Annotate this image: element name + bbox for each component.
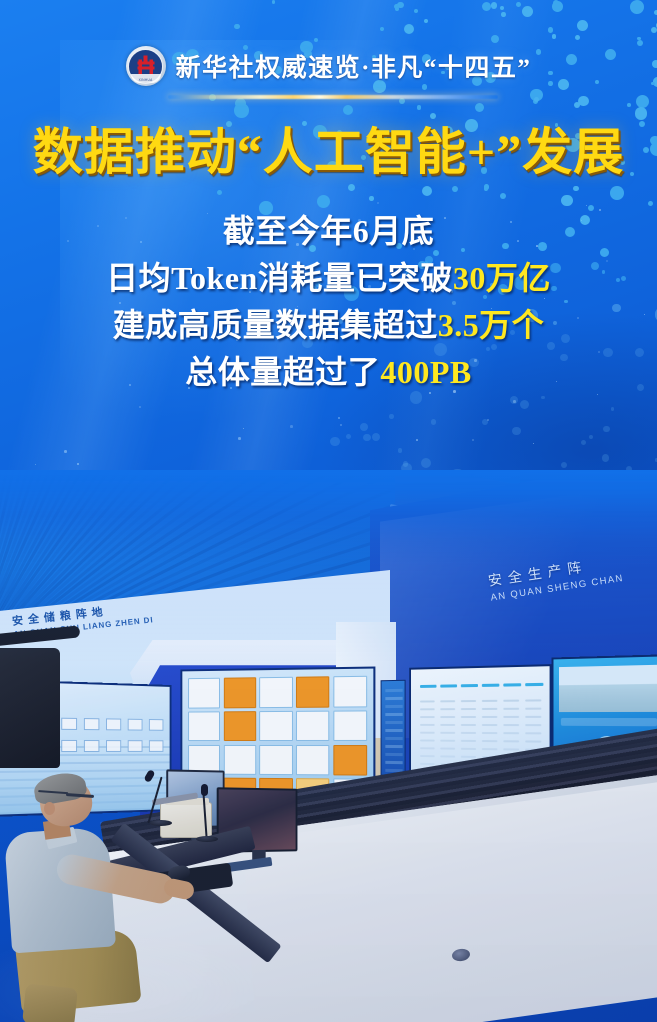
background-dot [627,103,631,107]
background-dot [217,190,222,195]
screen-text-line [420,716,435,718]
background-dot [552,1,563,12]
background-dot [317,195,330,208]
screen-text-line [440,716,455,718]
screen-text-line [461,756,476,758]
screen-element [61,740,77,752]
background-dot [380,27,384,31]
background-sparkle [416,439,418,441]
background-sparkle [243,428,244,429]
screen-menu-line [385,737,402,740]
background-dot [574,102,580,108]
background-sparkle [238,437,241,440]
background-dot [589,435,594,440]
background-dot [394,4,399,9]
screen-tile [188,678,220,708]
screen-text-line [525,724,541,726]
background-dot [512,427,521,436]
background-dot [637,37,641,41]
background-dot [421,458,431,468]
background-dot [534,97,539,102]
background-dot [516,2,521,7]
screen-text-line [420,732,435,734]
background-dot [501,12,506,17]
background-dot [561,462,568,469]
screen-element [128,719,143,731]
screen-header-bar [503,683,521,686]
background-dot [491,35,499,43]
background-sparkle [338,417,340,419]
background-dot [533,99,538,104]
screen-element [61,718,77,730]
screen-text-line [482,700,498,702]
background-dot [548,27,554,33]
screen-tile [223,711,256,741]
screen-header-bar [461,684,478,687]
mic-head [201,784,208,796]
background-sparkle [340,424,342,426]
background-dot [424,19,428,23]
operator-person [4,772,164,1022]
screen-text-line [503,748,519,750]
screen-text-line [420,724,435,726]
background-dot [404,24,414,34]
background-sparkle [533,443,534,444]
screen-text-line [420,739,435,741]
screen-header-bar [482,684,500,687]
background-dot [500,6,504,10]
screen-text-line [461,740,476,742]
background-sparkle [35,464,36,465]
screen-element [149,719,163,731]
background-dot [484,184,490,190]
background-dot [422,186,432,196]
background-dot [573,186,579,192]
background-sparkle [472,439,474,441]
logo-ring-text: XINHUA [131,74,161,83]
person-shin [22,983,78,1022]
screen-text-line [461,716,476,718]
background-dot [491,2,497,8]
screen-tile [333,710,367,741]
screen-element [106,718,121,730]
background-dot [363,434,371,442]
background-dot [578,96,589,107]
screen-text-line [482,748,498,750]
screen-text-line [461,724,476,726]
background-dot [346,434,352,440]
background-dot [552,34,557,39]
background-dot [389,414,394,419]
background-sparkle [487,419,489,421]
statement-line: 截至今年6月底 [0,208,657,255]
statement-text: 截至今年6月底 [223,213,435,249]
background-dot [475,103,485,113]
screen-tile [223,677,256,708]
screen-text-line [482,716,498,718]
background-dot [577,20,589,32]
background-dot [651,27,657,34]
background-dot [482,419,488,425]
screen-tile [333,745,367,776]
background-dot [635,107,648,120]
header: XINHUA 新华社权威速览·非凡“十四五” [0,46,657,86]
background-sparkle [139,406,141,408]
statement-text: 日均Token消耗量已突破 [106,260,453,296]
background-sparkle [290,425,293,428]
background-sparkle [586,205,587,206]
background-dot [482,2,491,11]
background-dot [369,196,374,201]
screen-text-line [503,700,519,702]
statement-text: 建成高质量数据集超过 [113,307,438,343]
screen-header-bar [525,683,543,686]
screen-menu-line [385,753,402,756]
background-dot [397,2,403,8]
background-sparkle [513,400,516,403]
screen-menu-line [385,689,402,692]
statement-line: 建成高质量数据集超过3.5万个 [0,302,657,349]
background-dot [343,105,353,115]
screen-text-line [440,700,455,702]
screen-tile [188,711,220,741]
screen-element [84,740,99,752]
background-dot [452,186,458,192]
background-dot [417,105,422,110]
screen-element [84,718,99,730]
background-dot [500,193,506,199]
background-dot [484,187,488,191]
screen-menu-line [385,713,402,716]
screen-text-line [503,732,519,734]
background-dot [581,440,586,445]
screen-element [149,740,163,752]
background-dot [398,448,403,453]
screen-text-line [482,708,498,710]
screen-tile [259,677,292,708]
office-chair [0,648,60,768]
screen-menu-line [385,697,402,700]
background-sparkle [77,463,79,465]
screen-text-line [461,732,476,734]
background-dot [403,461,409,467]
screen-element [128,740,143,752]
background-dot [611,407,615,411]
statement-list: 截至今年6月底日均Token消耗量已突破30万亿建成高质量数据集超过3.5万个总… [0,208,657,396]
screen-text-line [440,748,455,750]
screen-text-line [420,708,435,710]
background-dot [636,95,650,109]
screen-header-bar [440,684,457,687]
header-title: 新华社权威速览·非凡“十四五” [176,48,532,84]
statement-highlight: 3.5万个 [438,307,545,343]
background-dot [372,433,380,441]
gold-divider [168,95,498,99]
screen-text-line [440,755,455,757]
background-dot [431,419,436,424]
screen-text-line [503,724,519,726]
statement-line: 日均Token消耗量已突破30万亿 [0,255,657,302]
background-dot [272,0,276,4]
screen-header-bar [420,685,436,688]
background-dot [395,7,399,11]
page-title: 数据推动“人工智能+”发展 [0,123,657,181]
xinhua-logo-icon: XINHUA [126,46,166,86]
screen-text-line [461,748,476,750]
screen-text-line [482,732,498,734]
background-dot [541,396,545,400]
screen-text-line [420,747,435,749]
background-dot [561,195,573,207]
background-dot [520,400,530,410]
background-dot [630,0,644,14]
background-dot [522,6,534,18]
screen-text-line [461,700,476,702]
screen-text-line [420,763,435,765]
background-dot [648,201,654,207]
screen-menu-line [385,721,402,724]
background-dot [234,103,249,118]
screen-tile [296,710,330,741]
screen-text-line [440,708,455,710]
screen-text-line [440,740,455,742]
screen-tile [296,676,330,707]
background-dot [603,426,609,432]
background-dot [235,98,246,109]
screen-text-line [525,708,541,710]
screen-tile [296,745,330,776]
screen-text-line [525,716,541,718]
screen-text-line [525,732,541,734]
background-dot [602,454,610,462]
background-dot [530,89,543,102]
statement-text: 总体量超过了 [185,354,380,390]
background-dot [553,0,559,6]
statement-highlight: 400PB [380,354,471,390]
background-dot [610,186,624,200]
background-dot [360,423,368,431]
screen-menu-line [385,745,402,748]
screen-tile [333,676,367,707]
background-dot [510,396,518,404]
screen-text-line [420,755,435,757]
background-dot [330,437,340,447]
screen-text-line [420,700,435,702]
background-dot [348,184,355,191]
background-dot [399,98,405,104]
screen-text-line [503,716,519,718]
screen-menu-line [385,761,402,764]
background-dot [430,113,436,119]
screen-text-line [440,724,455,726]
background-sparkle [64,450,67,453]
screen-tile [259,745,292,776]
control-room-photo: 安全储粮阵地 AN QUAN CHU LIANG ZHEN DI 安全生产阵 A… [0,470,657,1022]
screen-text-line [461,708,476,710]
button-row-graphic [561,718,657,726]
screen-text-line [525,740,541,742]
mic-base [196,836,218,842]
background-dot [575,35,580,40]
statement-highlight: 30万亿 [453,260,551,296]
screen-element [106,740,121,752]
background-sparkle [377,202,379,204]
statement-line: 总体量超过了400PB [0,349,657,396]
screen-tile [223,745,256,775]
screen-text-line [482,740,498,742]
screen-menu-line [385,705,402,708]
camera-image [559,665,657,712]
background-dot [234,24,239,29]
background-dot [314,38,318,42]
screen-text-line [503,708,519,710]
screen-menu-line [385,729,402,732]
poster-canvas: XINHUA 新华社权威速览·非凡“十四五” 数据推动“人工智能+”发展 截至今… [0,0,657,1022]
screen-text-line [525,699,541,701]
display-screen-sidebar [381,680,406,777]
screen-text-line [440,732,455,734]
screen-text-line [503,740,519,742]
background-dot [414,9,418,13]
person-ear [44,802,55,815]
screen-text-line [482,724,498,726]
screen-tile [259,711,292,742]
